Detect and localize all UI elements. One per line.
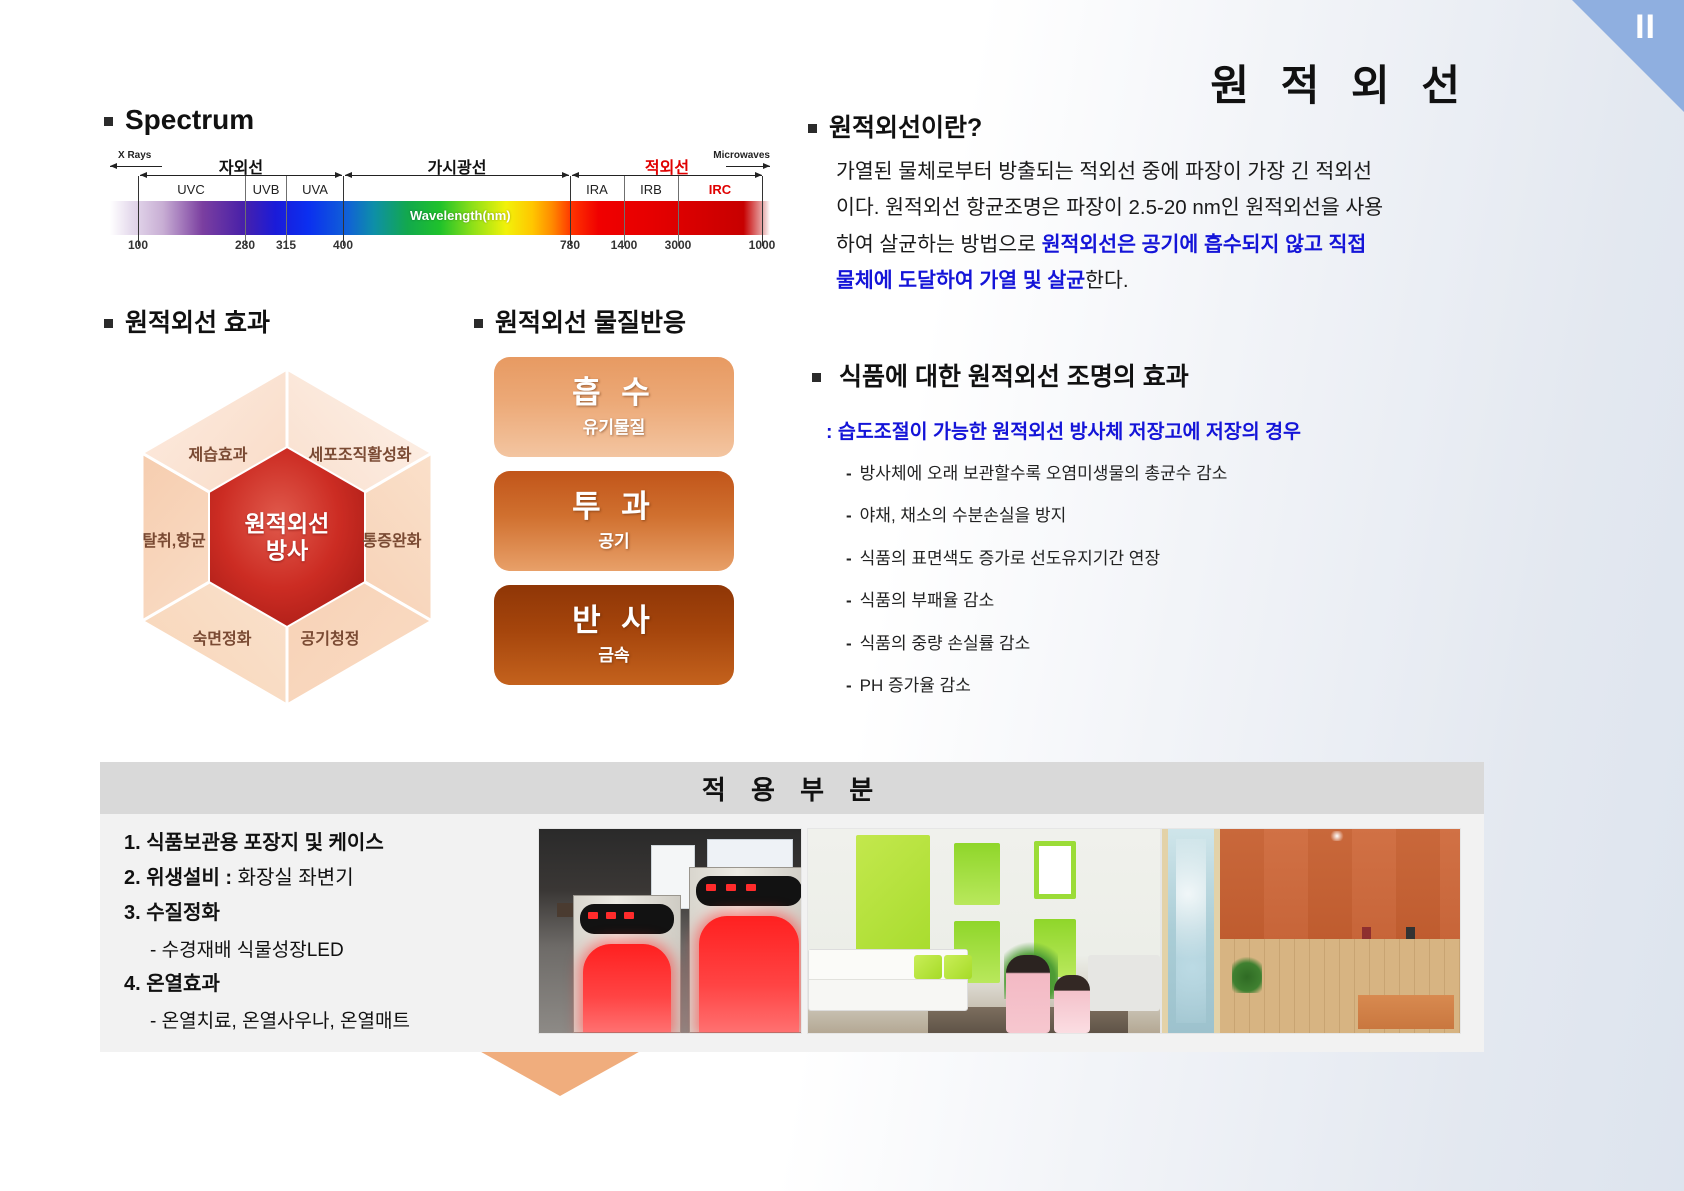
photo-2-wall-panel-large bbox=[856, 835, 930, 955]
hex-center-line1: 원적외선 bbox=[245, 510, 330, 536]
photo-2-adult-figure bbox=[1006, 955, 1050, 1033]
application-item-3-number: 3. bbox=[124, 902, 141, 924]
material-box-transmission-title: 투 과 bbox=[572, 490, 656, 524]
photo-1-cabinet-left bbox=[573, 895, 681, 1033]
intro-line-3-plain: 하여 살균하는 방법으로 bbox=[836, 233, 1042, 256]
material-heading: 원적외선 물질반응 bbox=[474, 303, 774, 339]
photo-3-plant bbox=[1232, 953, 1262, 993]
application-list: 1. 식품보관용 포장지 및 케이스 2. 위생설비 : 화장실 좌변기 3. … bbox=[124, 830, 544, 1042]
application-item-2-label: 위생설비 : bbox=[146, 867, 232, 889]
photo-1-led bbox=[726, 884, 736, 891]
application-item-4-number: 4. bbox=[124, 973, 141, 995]
microwaves-arrow-icon bbox=[726, 166, 770, 167]
axis-tick-315: 315 bbox=[276, 238, 296, 252]
effects-item-text: 식품의 부패율 감소 bbox=[860, 591, 995, 610]
bullet-square-icon bbox=[474, 319, 483, 328]
intro-section: 원적외선이란? 가열된 물체로부터 방출되는 적외선 중에 파장이 가장 긴 적… bbox=[808, 108, 1498, 300]
material-box-list: 흡 수 유기물질 투 과 공기 반 사 금속 bbox=[494, 357, 774, 685]
tick-line-3000 bbox=[678, 176, 679, 246]
down-chevron-icon bbox=[474, 1048, 646, 1096]
photo-1-cabinet-right bbox=[689, 867, 802, 1033]
photo-2-pillow bbox=[914, 955, 942, 979]
photo-1-glowing-door-right bbox=[699, 916, 799, 1032]
photo-red-sterilizer-cabinets bbox=[538, 828, 802, 1034]
slide-number: II bbox=[1635, 10, 1656, 44]
photo-1-led bbox=[624, 912, 634, 919]
axis-tick-400: 400 bbox=[333, 238, 353, 252]
tick-line-1000 bbox=[762, 176, 763, 246]
dash-icon: - bbox=[846, 549, 852, 568]
photo-3-glass-door bbox=[1162, 829, 1220, 1033]
photo-1-control-panel-left bbox=[580, 904, 674, 934]
group-label-ir: 적외선 bbox=[645, 154, 689, 178]
effects-item: -식품의 중량 손실률 감소 bbox=[846, 634, 1508, 654]
photo-1-led bbox=[746, 884, 756, 891]
material-box-absorption-title: 흡 수 bbox=[572, 376, 656, 410]
intro-heading-label: 원적외선이란? bbox=[829, 114, 982, 142]
photo-2-sofa-right bbox=[1088, 955, 1160, 1011]
bullet-square-icon bbox=[812, 373, 821, 382]
food-effects-section: 식품에 대한 원적외선 조명의 효과 : 습도조절이 가능한 원적외선 방사체 … bbox=[808, 357, 1508, 718]
photo-2-child-figure bbox=[1054, 975, 1090, 1033]
axis-tick-1400: 1400 bbox=[611, 238, 638, 252]
photo-1-led bbox=[606, 912, 616, 919]
axis-tick-1000: 1000 bbox=[749, 238, 776, 252]
effects-item-text: PH 증가율 감소 bbox=[860, 676, 971, 695]
spectrum-heading: Spectrum bbox=[104, 104, 804, 136]
material-box-absorption-sub: 유기물질 bbox=[583, 413, 646, 438]
dash-icon: - bbox=[846, 591, 852, 610]
material-reaction-section: 원적외선 물질반응 흡 수 유기물질 투 과 공기 반 사 금속 bbox=[474, 303, 774, 699]
application-subitem-1: - 수경재배 식물성장LED bbox=[150, 935, 544, 962]
group-label-uv: 자외선 bbox=[219, 154, 263, 178]
photo-living-room-green-panels bbox=[807, 828, 1161, 1034]
dash-icon: - bbox=[846, 634, 852, 653]
photo-3-ceiling-light bbox=[1329, 831, 1345, 841]
band-label-uva: UVA bbox=[302, 182, 328, 197]
effects-item-text: 식품의 중량 손실률 감소 bbox=[860, 634, 1031, 653]
effects-heading-label: 식품에 대한 원적외선 조명의 효과 bbox=[839, 363, 1189, 391]
application-header-band: 적 용 부 분 bbox=[100, 762, 1484, 814]
dash-icon: - bbox=[846, 676, 852, 695]
hex-segment-pain-relief: 통증완화 bbox=[363, 527, 422, 551]
band-label-irc: IRC bbox=[709, 182, 731, 197]
application-panel: 적 용 부 분 1. 식품보관용 포장지 및 케이스 2. 위생설비 : 화장실… bbox=[100, 762, 1484, 1052]
intro-line-1: 가열된 물체로부터 방출되는 적외선 중에 파장이 가장 긴 적외선 bbox=[836, 160, 1372, 183]
axis-tick-3000: 3000 bbox=[665, 238, 692, 252]
group-label-visible: 가시광선 bbox=[428, 154, 487, 178]
photo-2-wall-panel-white bbox=[1034, 841, 1076, 899]
band-label-irb: IRB bbox=[640, 182, 662, 197]
wavelength-label: Wavelength(nm) bbox=[410, 208, 511, 223]
effects-heading: 식품에 대한 원적외선 조명의 효과 bbox=[808, 357, 1508, 393]
hex-segment-dehumidify: 제습효과 bbox=[189, 441, 248, 465]
effects-item-text: 식품의 표면색도 증가로 선도유지기간 연장 bbox=[860, 549, 1160, 568]
hex-segment-cell-activation: 세포조직활성화 bbox=[308, 441, 411, 465]
hex-segment-air-purify: 공기청정 bbox=[301, 625, 360, 649]
photo-1-led bbox=[588, 912, 598, 919]
effects-subheading: : 습도조절이 가능한 원적외선 방사체 저장고에 저장의 경우 bbox=[826, 415, 1508, 444]
tick-line-400 bbox=[343, 176, 344, 246]
axis-tick-100: 100 bbox=[128, 238, 148, 252]
spectrum-heading-label: Spectrum bbox=[125, 104, 254, 135]
page-title: 원 적 외 선 bbox=[1210, 52, 1470, 113]
spectrum-chart: Wavelength(nm) X Rays Microwaves 자외선 가시광… bbox=[110, 158, 770, 263]
hex-center-label: 원적외선 방사 bbox=[245, 510, 330, 563]
bullet-square-icon bbox=[808, 124, 817, 133]
hexagon-diagram: 제습효과 세포조직활성화 통증완화 공기청정 숙면정화 탈취,항균 원적외선 방… bbox=[112, 357, 462, 717]
application-item-2-number: 2. bbox=[124, 867, 141, 889]
effects-item-text: 방사체에 오래 보관할수록 오염미생물의 총균수 감소 bbox=[860, 464, 1228, 483]
photo-2-wall-panel bbox=[954, 843, 1000, 905]
photo-3-door-glass-pattern bbox=[1176, 839, 1206, 1023]
photo-1-control-panel-right bbox=[696, 876, 802, 906]
photo-3-upper-wall bbox=[1220, 829, 1460, 939]
bullet-square-icon bbox=[104, 117, 113, 126]
photo-3-bench bbox=[1358, 995, 1454, 1029]
effects-item: -식품의 부패율 감소 bbox=[846, 591, 1508, 611]
intro-line-4-highlight: 물체에 도달하여 가열 및 살균 bbox=[836, 269, 1085, 292]
application-item-2: 2. 위생설비 : 화장실 좌변기 bbox=[124, 865, 544, 891]
dash-icon: - bbox=[846, 464, 852, 483]
x-rays-label: X Rays bbox=[118, 150, 151, 161]
effects-item: -식품의 표면색도 증가로 선도유지기간 연장 bbox=[846, 549, 1508, 569]
material-box-reflection-title: 반 사 bbox=[572, 604, 656, 638]
effects-item-text: 야채, 채소의 수분손실을 방지 bbox=[860, 506, 1067, 525]
material-box-reflection-sub: 금속 bbox=[598, 641, 629, 666]
photo-3-shelf-item bbox=[1406, 927, 1415, 939]
slide-canvas: II 원 적 외 선 Spectrum Wavelength(nm) X Ray… bbox=[0, 0, 1684, 1191]
application-item-1-number: 1. bbox=[124, 832, 141, 854]
bullet-square-icon bbox=[104, 319, 113, 328]
photo-3-shelf-item bbox=[1362, 927, 1371, 939]
tick-line-100 bbox=[138, 176, 139, 246]
effects-item: -야채, 채소의 수분손실을 방지 bbox=[846, 506, 1508, 526]
intro-line-3-highlight: 원적외선은 공기에 흡수되지 않고 직접 bbox=[1042, 233, 1367, 256]
tick-line-280 bbox=[245, 176, 246, 246]
effects-item: -방사체에 오래 보관할수록 오염미생물의 총균수 감소 bbox=[846, 464, 1508, 484]
application-item-3-label: 수질정화 bbox=[146, 902, 220, 924]
microwaves-label: Microwaves bbox=[713, 150, 770, 161]
dash-icon: - bbox=[846, 506, 852, 525]
intro-line-4-plain: 한다. bbox=[1085, 269, 1128, 292]
hex-segment-deodorize: 탈취,항균 bbox=[142, 527, 205, 551]
photo-wooden-sauna-room bbox=[1161, 828, 1461, 1034]
band-label-uvc: UVC bbox=[177, 182, 204, 197]
intro-heading: 원적외선이란? bbox=[808, 108, 1498, 144]
material-box-reflection[interactable]: 반 사 금속 bbox=[494, 585, 734, 685]
intro-line-2: 이다. 원적외선 항균조명은 파장이 2.5-20 nm인 원적외선을 사용 bbox=[836, 196, 1383, 219]
axis-tick-780: 780 bbox=[560, 238, 580, 252]
effects-item: -PH 증가율 감소 bbox=[846, 676, 1508, 696]
spectrum-section: Spectrum Wavelength(nm) X Rays Microwave… bbox=[104, 104, 804, 263]
far-infrared-effects-section: 원적외선 효과 bbox=[104, 303, 484, 717]
application-item-1: 1. 식품보관용 포장지 및 케이스 bbox=[124, 830, 544, 856]
application-item-4-label: 온열효과 bbox=[146, 973, 220, 995]
hex-center-line2: 방사 bbox=[266, 537, 308, 563]
material-box-transmission[interactable]: 투 과 공기 bbox=[494, 471, 734, 571]
corner-triangle-decoration bbox=[1572, 0, 1684, 112]
application-item-4: 4. 온열효과 bbox=[124, 971, 544, 997]
x-rays-arrow-icon bbox=[110, 166, 162, 167]
band-label-ira: IRA bbox=[586, 182, 608, 197]
application-subitem-2: - 온열치료, 온열사우나, 온열매트 bbox=[150, 1006, 544, 1033]
material-heading-label: 원적외선 물질반응 bbox=[495, 309, 686, 337]
tick-line-780 bbox=[570, 176, 571, 246]
application-header-label: 적 용 부 분 bbox=[702, 770, 882, 807]
band-label-uvb: UVB bbox=[253, 182, 280, 197]
intro-paragraph: 가열된 물체로부터 방출되는 적외선 중에 파장이 가장 긴 적외선 이다. 원… bbox=[836, 154, 1498, 300]
photo-1-led bbox=[706, 884, 716, 891]
material-box-absorption[interactable]: 흡 수 유기물질 bbox=[494, 357, 734, 457]
application-item-1-label: 식품보관용 포장지 및 케이스 bbox=[146, 832, 383, 854]
tick-line-315 bbox=[286, 176, 287, 246]
hex-segment-deep-sleep: 숙면정화 bbox=[193, 625, 252, 649]
application-item-2-rest: 화장실 좌변기 bbox=[232, 867, 354, 889]
application-item-3: 3. 수질정화 bbox=[124, 900, 544, 926]
material-box-transmission-sub: 공기 bbox=[598, 527, 629, 552]
tick-line-1400 bbox=[624, 176, 625, 246]
axis-tick-280: 280 bbox=[235, 238, 255, 252]
hex-heading: 원적외선 효과 bbox=[104, 303, 484, 339]
photo-2-pillow bbox=[944, 955, 972, 979]
photo-1-glowing-door-left bbox=[583, 944, 671, 1032]
hex-heading-label: 원적외선 효과 bbox=[125, 309, 270, 337]
